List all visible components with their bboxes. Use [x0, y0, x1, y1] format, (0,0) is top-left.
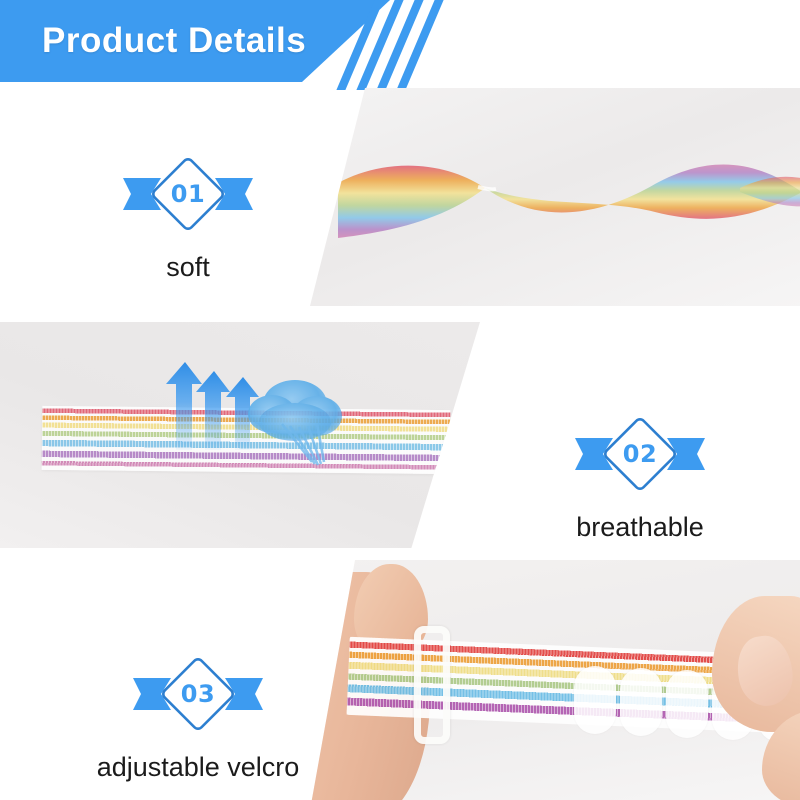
badge-number: 03: [127, 680, 269, 708]
feature-label: breathable: [540, 512, 740, 543]
badge-02: 02: [569, 408, 711, 500]
twisted-rainbow-strap-photo: [310, 88, 800, 306]
airflow-graphic: [0, 322, 480, 548]
badge-01: 01: [117, 148, 259, 240]
panel-breathable-photo: [0, 322, 480, 548]
panel-soft-photo: [310, 88, 800, 306]
panel-velcro-photo: [310, 560, 800, 800]
header-banner: Product Details: [0, 0, 800, 90]
velcro-patch: [666, 670, 708, 738]
badge-03: 03: [127, 648, 269, 740]
velcro-patch: [620, 668, 662, 736]
badge-number: 02: [569, 440, 711, 468]
feature-breathable: 02 breathable: [540, 408, 740, 543]
feature-label: adjustable velcro: [78, 752, 318, 783]
feature-label: soft: [98, 252, 278, 283]
page-title: Product Details: [42, 20, 306, 62]
slider-loop-icon: [414, 626, 450, 744]
feature-velcro: 03 adjustable velcro: [78, 648, 318, 783]
feature-soft: 01 soft: [98, 148, 278, 283]
badge-number: 01: [117, 180, 259, 208]
product-details-infographic: Product Details: [0, 0, 800, 800]
velcro-patch: [574, 666, 616, 734]
airflow-arrow-group: [166, 362, 259, 450]
